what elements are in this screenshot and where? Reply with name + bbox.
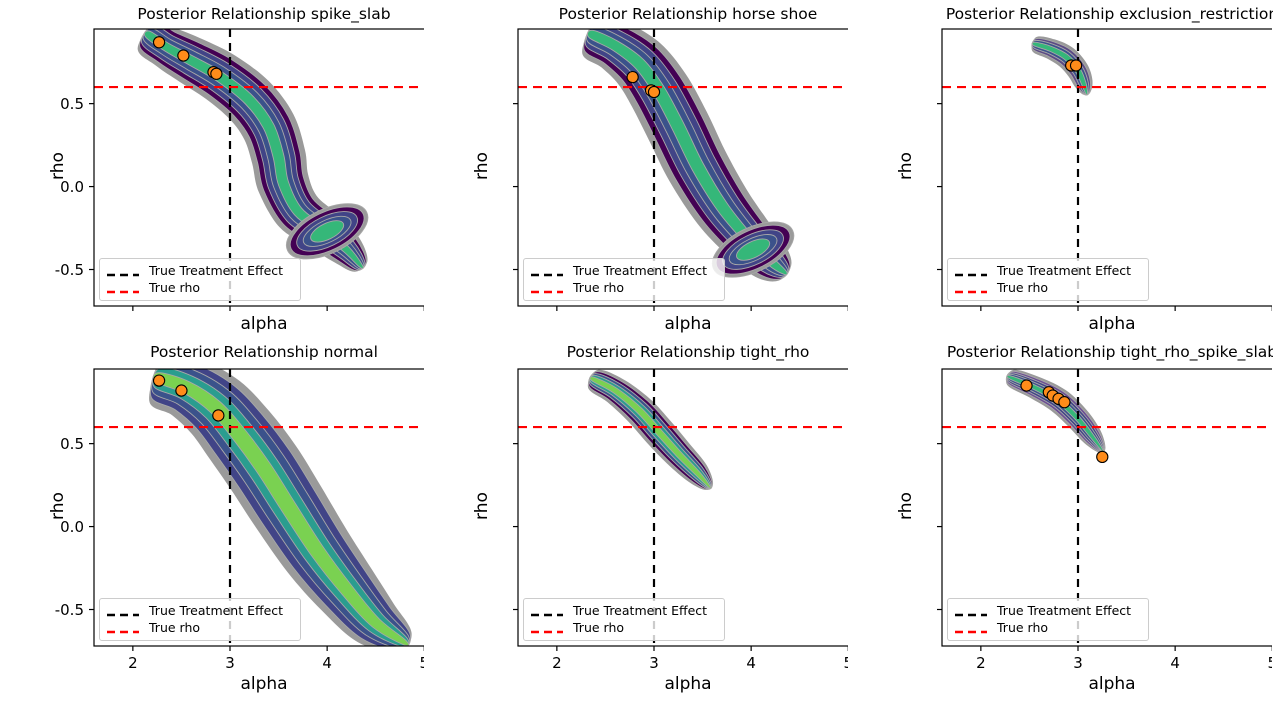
posterior-mean-point — [648, 86, 659, 97]
legend-label: True Treatment Effect — [997, 605, 1131, 618]
x-tick-label: 4 — [746, 654, 756, 672]
legend-dash-swatch — [530, 266, 564, 278]
legend-item: True rho — [954, 280, 1142, 297]
posterior-mean-point — [211, 68, 222, 79]
subplot-panel: Posterior Relationship spike_slab0.50.0-… — [0, 0, 424, 340]
y-tick-label: 0.5 — [60, 435, 84, 453]
subplot-panel: Posterior Relationship horse shoerhoalph… — [424, 0, 848, 340]
y-axis-label: rho — [48, 476, 68, 536]
legend-item: True Treatment Effect — [106, 263, 294, 280]
legend: True Treatment EffectTrue rho — [947, 598, 1149, 641]
posterior-mean-point — [1097, 451, 1108, 462]
subplot-panel: Posterior Relationship exclusion_restric… — [848, 0, 1272, 340]
legend-dash-swatch — [954, 266, 988, 278]
legend-dash-swatch — [954, 606, 988, 618]
legend-dash-swatch — [106, 623, 140, 635]
legend-label: True Treatment Effect — [573, 605, 707, 618]
posterior-mean-point — [153, 375, 164, 386]
x-axis-label: alpha — [518, 674, 858, 694]
legend: True Treatment EffectTrue rho — [523, 258, 725, 301]
legend-item: True Treatment Effect — [954, 603, 1142, 620]
y-axis-label: rho — [48, 136, 68, 196]
posterior-mean-point — [178, 50, 189, 61]
subplot-panel: Posterior Relationship normal23450.50.0-… — [0, 340, 424, 710]
legend-dash-swatch — [954, 283, 988, 295]
legend-label: True rho — [997, 282, 1048, 295]
posterior-mean-point — [153, 37, 164, 48]
posterior-mean-point — [1070, 60, 1081, 71]
subplot-panel: Posterior Relationship tight_rho2345rhoa… — [424, 340, 848, 710]
contour-group — [1006, 370, 1105, 453]
y-axis-label: rho — [472, 476, 492, 536]
x-axis-label: alpha — [942, 674, 1273, 694]
legend-label: True rho — [149, 622, 200, 635]
y-axis-label: rho — [896, 476, 916, 536]
figure-canvas: Posterior Relationship spike_slab0.50.0-… — [0, 0, 1273, 710]
contour-group — [582, 14, 802, 288]
posterior-mean-point — [1021, 380, 1032, 391]
x-tick-label: 3 — [225, 654, 235, 672]
legend-dash-swatch — [530, 606, 564, 618]
legend-dash-swatch — [106, 266, 140, 278]
x-tick-label: 3 — [1073, 654, 1083, 672]
legend-dash-swatch — [954, 623, 988, 635]
legend-dash-swatch — [106, 606, 140, 618]
x-axis-label: alpha — [942, 314, 1273, 334]
x-tick-label: 3 — [649, 654, 659, 672]
y-axis-label: rho — [472, 136, 492, 196]
legend-label: True rho — [573, 622, 624, 635]
posterior-mean-point — [1059, 397, 1070, 408]
posterior-mean-point — [627, 72, 638, 83]
x-tick-label: 2 — [976, 654, 986, 672]
y-axis-label: rho — [896, 136, 916, 196]
posterior-mean-point — [176, 385, 187, 396]
y-tick-label: 0.5 — [60, 95, 84, 113]
legend-label: True rho — [997, 622, 1048, 635]
x-axis-label: alpha — [94, 674, 434, 694]
posterior-mean-point — [213, 410, 224, 421]
x-tick-label: 2 — [128, 654, 138, 672]
legend-dash-swatch — [530, 623, 564, 635]
x-axis-label: alpha — [518, 314, 858, 334]
contour-group — [138, 19, 377, 272]
x-tick-label: 4 — [322, 654, 332, 672]
y-tick-label: -0.5 — [55, 601, 84, 619]
y-tick-label: -0.5 — [55, 261, 84, 279]
legend-label: True rho — [149, 282, 200, 295]
legend-item: True rho — [106, 620, 294, 637]
legend-item: True Treatment Effect — [530, 603, 718, 620]
legend-item: True Treatment Effect — [530, 263, 718, 280]
x-axis-label: alpha — [94, 314, 434, 334]
legend: True Treatment EffectTrue rho — [99, 598, 301, 641]
legend-label: True Treatment Effect — [149, 265, 283, 278]
legend-item: True rho — [530, 620, 718, 637]
subplot-panel: Posterior Relationship tight_rho_spike_s… — [848, 340, 1272, 710]
legend-item: True rho — [106, 280, 294, 297]
legend-label: True Treatment Effect — [149, 605, 283, 618]
x-tick-label: 4 — [1170, 654, 1180, 672]
contour-group — [588, 370, 713, 490]
legend-item: True Treatment Effect — [954, 263, 1142, 280]
legend-label: True Treatment Effect — [573, 265, 707, 278]
legend-label: True rho — [573, 282, 624, 295]
legend: True Treatment EffectTrue rho — [947, 258, 1149, 301]
legend: True Treatment EffectTrue rho — [523, 598, 725, 641]
legend-label: True Treatment Effect — [997, 265, 1131, 278]
x-tick-label: 2 — [552, 654, 562, 672]
legend-item: True rho — [530, 280, 718, 297]
legend-dash-swatch — [106, 283, 140, 295]
legend-item: True Treatment Effect — [106, 603, 294, 620]
legend-item: True rho — [954, 620, 1142, 637]
legend-dash-swatch — [530, 283, 564, 295]
x-tick-label: 5 — [1268, 654, 1272, 672]
legend: True Treatment EffectTrue rho — [99, 258, 301, 301]
